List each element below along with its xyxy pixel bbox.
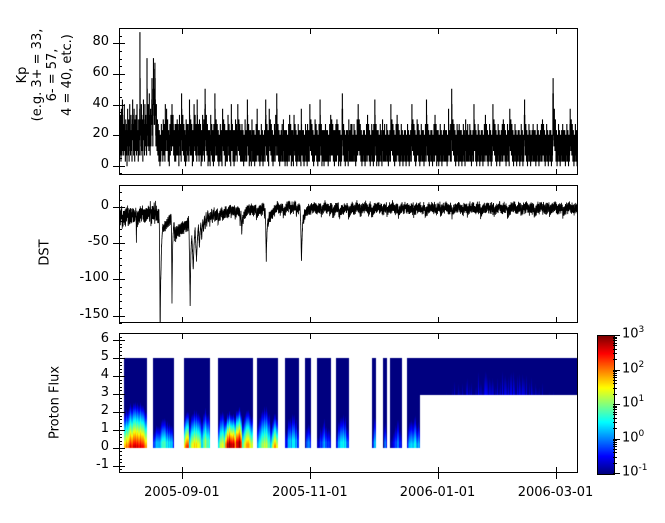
xtick-mark [556,317,557,323]
figure-root: Kp (e.g. 3+ = 33, 6- = 57, 4 = 40, etc.)… [0,0,665,523]
dst-path [119,200,578,323]
ytick-minor [119,214,122,215]
xtick-mark-top [438,333,439,339]
ytick-minor [119,365,122,366]
colorbar-minor-tick [613,340,617,341]
colorbar-tick-label: 103 [622,325,644,341]
ytick-minor [119,423,122,424]
xtick-mark-top [310,333,311,339]
ytick-minor [119,358,122,359]
colorbar-minor-tick [613,452,617,453]
ytick-minor [119,462,122,463]
xtick-label: 2005-11-01 [255,485,365,500]
colorbar-minor-tick [613,380,617,381]
colorbar-minor-tick [613,442,617,443]
dst-axis-label: DST [38,223,53,283]
colorbar-minor-tick [613,377,617,378]
xtick-label: 2005-09-01 [127,485,237,500]
ytick-minor [119,287,122,288]
colorbar-tick-label: 102 [622,360,644,376]
ytick-minor [119,192,122,193]
ytick-minor [119,337,122,338]
ytick-label: 0 [101,198,109,213]
ytick-minor [119,426,122,427]
xtick-mark-outer [182,473,183,479]
ytick-label: 0 [101,439,109,454]
ytick-minor [119,405,122,406]
colorbar-minor-tick [613,388,617,389]
ytick-minor [119,434,122,435]
ytick-label: -1 [96,457,109,472]
colorbar-minor-tick [613,449,617,450]
ytick-minor [119,416,122,417]
ytick-minor [119,323,122,324]
xtick-mark-top [182,28,183,34]
ytick-minor [119,430,122,431]
colorbar-minor-tick [613,338,617,339]
ytick-minor [119,250,122,251]
ytick-minor [119,412,122,413]
ytick-minor [119,455,122,456]
colorbar-minor-tick [613,349,617,350]
colorbar-tick [613,473,620,474]
ytick-minor [119,383,122,384]
ytick-label: 4 [101,367,109,382]
colorbar-minor-tick [613,375,617,376]
ytick-minor [119,390,122,391]
ytick-minor [119,372,122,373]
ytick-minor [119,243,122,244]
colorbar-minor-tick [613,359,617,360]
xtick-label: 2006-01-01 [383,485,493,500]
xtick-mark-top [556,333,557,339]
xtick-mark-outer [438,473,439,479]
colorbar-minor-tick [613,383,617,384]
xtick-mark [438,317,439,323]
ytick-minor [119,185,122,186]
colorbar-minor-tick [613,414,617,415]
xtick-mark-top [182,185,183,191]
ytick-minor [119,369,122,370]
ytick-minor [119,441,122,442]
ytick-minor [119,258,122,259]
ytick-minor [119,351,122,352]
ytick-minor [119,419,122,420]
xtick-mark-top [310,28,311,34]
ytick-minor [119,294,122,295]
ytick-minor [119,387,122,388]
ytick-minor [119,459,122,460]
xtick-mark-top [438,185,439,191]
colorbar [597,335,615,475]
colorbar-minor-tick [613,337,617,338]
ytick-label: 2 [101,403,109,418]
colorbar-minor-tick [613,418,617,419]
ytick-minor [119,207,122,208]
ytick-minor [119,451,122,452]
colorbar-minor-tick [613,440,617,441]
colorbar-minor-tick [613,463,617,464]
proton-flux-axis-label: Proton Flux [48,343,63,463]
ytick-minor [119,347,122,348]
xtick-mark-top [182,333,183,339]
ytick-minor [119,229,122,230]
ytick-minor [119,444,122,445]
ytick-minor [119,272,122,273]
colorbar-minor-tick [613,373,617,374]
colorbar-minor-tick [613,422,617,423]
colorbar-tick [613,404,620,405]
colorbar-tick [613,335,620,336]
xtick-mark-top [310,185,311,191]
colorbar-tick-label: 10-1 [622,463,648,479]
colorbar-minor-tick [613,406,617,407]
ytick-minor [119,344,122,345]
ytick-label: 6 [101,331,109,346]
colorbar-minor-tick [613,446,617,447]
colorbar-tick-label: 101 [622,394,644,410]
ytick-minor [119,355,122,356]
xtick-mark [182,317,183,323]
ytick-minor [119,469,122,470]
colorbar-minor-tick [613,343,617,344]
ytick-minor [119,376,122,377]
ytick-label: -100 [79,270,109,285]
colorbar-minor-tick [613,444,617,445]
colorbar-minor-tick [613,428,617,429]
colorbar-minor-tick [613,345,617,346]
colorbar-minor-tick [613,353,617,354]
ytick-minor [119,437,122,438]
ytick-minor [119,466,122,467]
ytick-minor [119,398,122,399]
xtick-mark [310,317,311,323]
xtick-mark [556,169,557,175]
ytick-minor [119,380,122,381]
ytick-minor [119,340,122,341]
ytick-minor [119,279,122,280]
ytick-minor [119,221,122,222]
xtick-mark [310,169,311,175]
ytick-minor [119,408,122,409]
colorbar-minor-tick [613,409,617,410]
colorbar-minor-tick [613,412,617,413]
ytick-label: -150 [79,307,109,322]
ytick-label: -50 [88,234,109,249]
ytick-minor [119,448,122,449]
ytick-minor [119,401,122,402]
ytick-minor [119,200,122,201]
ytick-label: 5 [101,349,109,364]
xtick-mark-outer [556,473,557,479]
colorbar-tick-label: 100 [622,429,644,445]
xtick-mark [438,169,439,175]
xtick-mark [182,169,183,175]
ytick-minor [119,394,122,395]
xtick-label: 2006-03-01 [501,485,611,500]
ytick-label: 3 [101,385,109,400]
ytick-minor [119,236,122,237]
ytick-minor [119,265,122,266]
xtick-mark-top [556,185,557,191]
xtick-mark-outer [310,473,311,479]
colorbar-minor-tick [613,457,617,458]
ytick-minor [119,362,122,363]
xtick-mark-top [556,28,557,34]
colorbar-minor-tick [613,394,617,395]
colorbar-minor-tick [613,407,617,408]
ytick-minor [119,301,122,302]
ytick-minor [119,308,122,309]
ytick-minor [119,316,122,317]
proton-flux-spectrogram [120,334,577,472]
colorbar-minor-tick [613,371,617,372]
xtick-mark-top [438,28,439,34]
ytick-label: 1 [101,421,109,436]
